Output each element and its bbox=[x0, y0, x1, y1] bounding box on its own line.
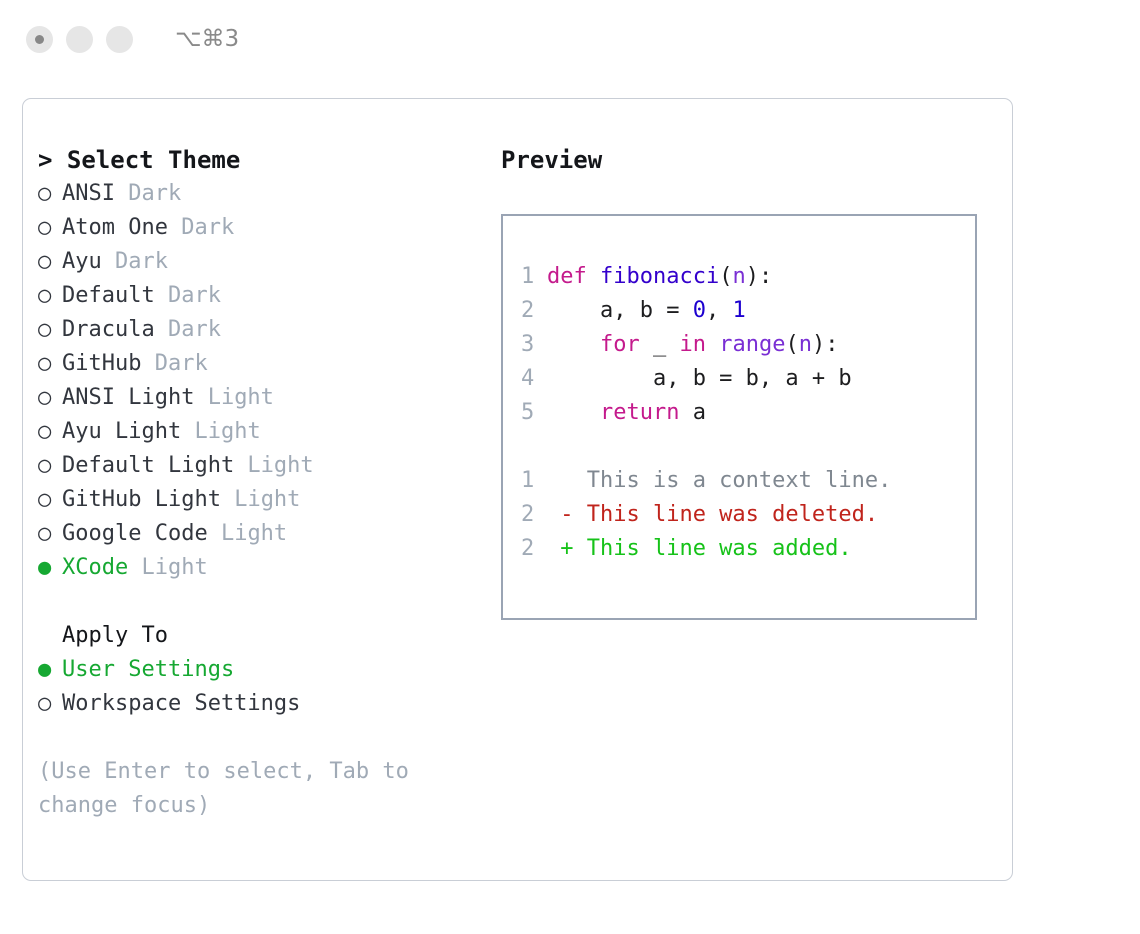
code-token-param: n bbox=[732, 264, 745, 289]
line-number: 4 bbox=[521, 362, 547, 396]
diff-line: 2 - This line was deleted. bbox=[521, 498, 975, 532]
code-line: 1def fibonacci(n): bbox=[521, 260, 975, 294]
code-token-plain: a, b = bbox=[547, 298, 693, 323]
app-window: ⌥⌘3 > Select Theme ○ANSI Dark○Atom One D… bbox=[0, 0, 1140, 934]
code-line: 2 a, b = 0, 1 bbox=[521, 294, 975, 328]
theme-option-label: ANSI bbox=[62, 181, 115, 206]
code-token-plain: a bbox=[679, 400, 706, 425]
code-token-plain: a, b = b, a + b bbox=[547, 366, 852, 391]
theme-variant-badge: Light bbox=[181, 419, 260, 444]
keyboard-hint: (Use Enter to select, Tab to change focu… bbox=[38, 755, 448, 823]
theme-option-label: Ayu Light bbox=[62, 419, 181, 444]
theme-option-label: GitHub bbox=[62, 351, 141, 376]
radio-unselected-icon: ○ bbox=[38, 381, 62, 415]
code-token-plain: ): bbox=[746, 264, 773, 289]
radio-unselected-icon: ○ bbox=[38, 347, 62, 381]
theme-variant-badge: Dark bbox=[141, 351, 207, 376]
theme-option-dracula[interactable]: ○Dracula Dark bbox=[38, 313, 488, 347]
main-panel: > Select Theme ○ANSI Dark○Atom One Dark○… bbox=[22, 98, 1013, 881]
preview-box: 1def fibonacci(n):2 a, b = 0, 13 for _ i… bbox=[501, 214, 977, 620]
theme-variant-badge: Dark bbox=[115, 181, 181, 206]
code-token-kw: def bbox=[547, 264, 600, 289]
code-token-kw: in bbox=[679, 332, 706, 357]
keyboard-hint-line-2: change focus) bbox=[38, 789, 448, 823]
hint-spacer bbox=[38, 721, 488, 755]
theme-option-default[interactable]: ○Default Dark bbox=[38, 279, 488, 313]
diff-line-text: - This line was deleted. bbox=[547, 502, 878, 527]
theme-option-label: Ayu bbox=[62, 249, 102, 274]
window-dot-active[interactable] bbox=[26, 26, 53, 53]
theme-variant-badge: Light bbox=[208, 521, 287, 546]
diff-line: 2 + This line was added. bbox=[521, 532, 975, 566]
apply-to-option-workspace-settings[interactable]: ○Workspace Settings bbox=[38, 687, 488, 721]
theme-option-label: XCode bbox=[62, 555, 128, 580]
window-dot-active-inner bbox=[35, 35, 44, 44]
theme-option-label: Default Light bbox=[62, 453, 234, 478]
radio-unselected-icon: ○ bbox=[38, 687, 62, 721]
theme-option-xcode[interactable]: ●XCode Light bbox=[38, 551, 488, 585]
window-dot-2[interactable] bbox=[66, 26, 93, 53]
radio-unselected-icon: ○ bbox=[38, 449, 62, 483]
apply-to-label: Apply To bbox=[38, 619, 488, 653]
theme-option-label: ANSI Light bbox=[62, 385, 194, 410]
diff-gap bbox=[521, 430, 975, 464]
code-token-plain bbox=[547, 400, 600, 425]
code-token-plain: _ bbox=[640, 332, 680, 357]
apply-to-option-user-settings[interactable]: ●User Settings bbox=[38, 653, 488, 687]
code-token-plain: ): bbox=[812, 332, 839, 357]
radio-unselected-icon: ○ bbox=[38, 211, 62, 245]
code-token-call: range bbox=[719, 332, 785, 357]
line-number: 3 bbox=[521, 328, 547, 362]
theme-option-ayu[interactable]: ○Ayu Dark bbox=[38, 245, 488, 279]
radio-selected-icon: ● bbox=[38, 551, 62, 585]
code-token-plain bbox=[706, 332, 719, 357]
theme-variant-badge: Dark bbox=[102, 249, 168, 274]
code-line: 4 a, b = b, a + b bbox=[521, 362, 975, 396]
apply-to-option-label: Workspace Settings bbox=[62, 691, 300, 716]
line-number: 2 bbox=[521, 498, 547, 532]
theme-option-label: Atom One bbox=[62, 215, 168, 240]
apply-to-list: ●User Settings○Workspace Settings bbox=[38, 653, 488, 721]
theme-option-ansi-light[interactable]: ○ANSI Light Light bbox=[38, 381, 488, 415]
line-number: 5 bbox=[521, 396, 547, 430]
code-token-param: n bbox=[799, 332, 812, 357]
theme-list: ○ANSI Dark○Atom One Dark○Ayu Dark○Defaul… bbox=[38, 177, 488, 585]
radio-unselected-icon: ○ bbox=[38, 245, 62, 279]
code-token-plain: ( bbox=[785, 332, 798, 357]
code-token-plain: , bbox=[706, 298, 733, 323]
code-token-fn: fibonacci bbox=[600, 264, 719, 289]
theme-option-github[interactable]: ○GitHub Dark bbox=[38, 347, 488, 381]
theme-option-label: Dracula bbox=[62, 317, 155, 342]
theme-variant-badge: Light bbox=[194, 385, 273, 410]
theme-option-atom-one[interactable]: ○Atom One Dark bbox=[38, 211, 488, 245]
theme-option-label: Default bbox=[62, 283, 155, 308]
line-number: 1 bbox=[521, 464, 547, 498]
theme-option-label: GitHub Light bbox=[62, 487, 221, 512]
theme-variant-badge: Dark bbox=[168, 215, 234, 240]
theme-variant-badge: Light bbox=[221, 487, 300, 512]
theme-variant-badge: Dark bbox=[155, 283, 221, 308]
diff-line: 1 This is a context line. bbox=[521, 464, 975, 498]
code-line: 3 for _ in range(n): bbox=[521, 328, 975, 362]
keyboard-shortcut-label: ⌥⌘3 bbox=[175, 26, 239, 52]
theme-option-google-code[interactable]: ○Google Code Light bbox=[38, 517, 488, 551]
code-token-kw: for bbox=[600, 332, 640, 357]
title-bar: ⌥⌘3 bbox=[0, 0, 1140, 78]
theme-option-ayu-light[interactable]: ○Ayu Light Light bbox=[38, 415, 488, 449]
list-spacer bbox=[38, 585, 488, 619]
radio-unselected-icon: ○ bbox=[38, 483, 62, 517]
diff-line-text: + This line was added. bbox=[547, 536, 852, 561]
theme-option-label: Google Code bbox=[62, 521, 208, 546]
preview-column: Preview 1def fibonacci(n):2 a, b = 0, 13… bbox=[501, 143, 991, 620]
radio-unselected-icon: ○ bbox=[38, 415, 62, 449]
theme-variant-badge: Light bbox=[234, 453, 313, 478]
radio-unselected-icon: ○ bbox=[38, 177, 62, 211]
theme-variant-badge: Light bbox=[128, 555, 207, 580]
line-number: 1 bbox=[521, 260, 547, 294]
window-dot-3[interactable] bbox=[106, 26, 133, 53]
radio-unselected-icon: ○ bbox=[38, 313, 62, 347]
preview-title: Preview bbox=[501, 143, 991, 177]
radio-unselected-icon: ○ bbox=[38, 517, 62, 551]
line-number: 2 bbox=[521, 294, 547, 328]
theme-option-ansi[interactable]: ○ANSI Dark bbox=[38, 177, 488, 211]
code-token-kw: return bbox=[600, 400, 679, 425]
code-token-plain: ( bbox=[719, 264, 732, 289]
apply-to-option-label: User Settings bbox=[62, 657, 234, 682]
radio-unselected-icon: ○ bbox=[38, 279, 62, 313]
code-token-num: 0 bbox=[693, 298, 706, 323]
line-number: 2 bbox=[521, 532, 547, 566]
page-title: > Select Theme bbox=[38, 143, 488, 177]
keyboard-hint-line-1: (Use Enter to select, Tab to bbox=[38, 755, 448, 789]
diff-sample: 1 This is a context line.2 - This line w… bbox=[521, 464, 975, 566]
code-token-num: 1 bbox=[732, 298, 745, 323]
theme-variant-badge: Dark bbox=[155, 317, 221, 342]
code-token-plain bbox=[547, 332, 600, 357]
code-sample: 1def fibonacci(n):2 a, b = 0, 13 for _ i… bbox=[521, 260, 975, 430]
radio-selected-icon: ● bbox=[38, 653, 62, 687]
theme-option-default-light[interactable]: ○Default Light Light bbox=[38, 449, 488, 483]
theme-option-github-light[interactable]: ○GitHub Light Light bbox=[38, 483, 488, 517]
diff-line-text: This is a context line. bbox=[547, 468, 891, 493]
theme-picker-column: > Select Theme ○ANSI Dark○Atom One Dark○… bbox=[38, 143, 488, 823]
code-line: 5 return a bbox=[521, 396, 975, 430]
